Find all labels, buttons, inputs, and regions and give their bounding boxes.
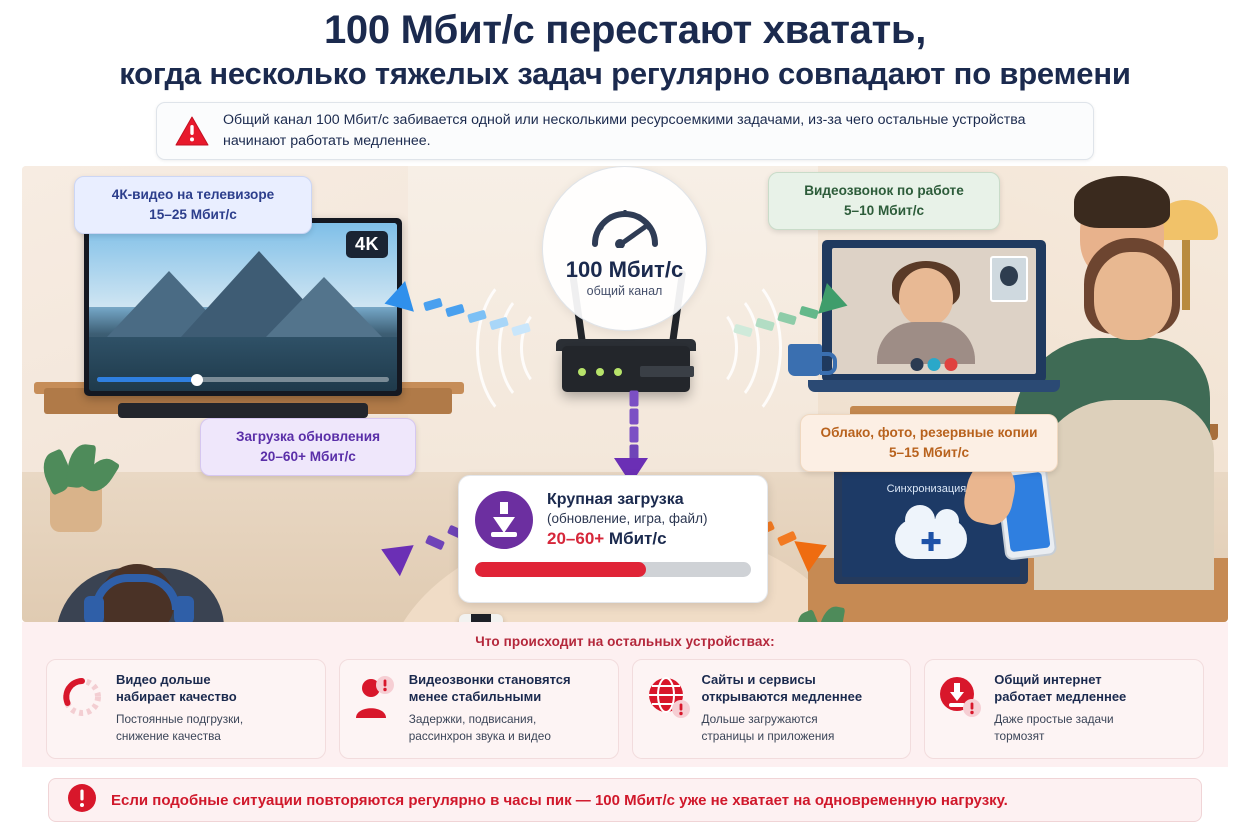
gauge-sublabel: общий канал [587, 284, 663, 298]
videocall-screen [832, 248, 1036, 374]
coffee-mug [788, 344, 822, 376]
badge-4k: 4K [346, 231, 388, 258]
globe-alert-icon [645, 674, 691, 720]
effect-card-video-text: Видео дольше набирает качество Постоянны… [116, 671, 243, 744]
lamp-stem [1182, 240, 1190, 310]
effect-title-line2: менее стабильными [409, 689, 541, 704]
call-video-button[interactable] [928, 358, 941, 371]
infographic-page: 100 Мбит/с перестают хватать, когда неск… [0, 0, 1250, 833]
effect-card-video: Видео дольше набирает качество Постоянны… [46, 659, 326, 759]
effect-desc-line2: рассинхрон звука и видео [409, 729, 551, 743]
coffee-mug-handle [820, 352, 837, 375]
large-download-text: Крупная загрузка (обновление, игра, файл… [547, 490, 707, 549]
effect-title-line1: Видео дольше [116, 672, 211, 687]
speedometer-icon [587, 200, 663, 253]
effect-card-internet-desc: Даже простые задачи тормозят [994, 711, 1126, 744]
man-hair [1074, 176, 1170, 228]
woman-head [1094, 252, 1172, 340]
speed-gauge: 100 Мбит/с общий канал [542, 166, 707, 331]
soundbar [118, 403, 368, 418]
effect-desc-line1: Даже простые задачи [994, 712, 1113, 726]
effect-desc-line2: тормозят [994, 729, 1044, 743]
download-arrow-head [493, 517, 515, 533]
buffering-spinner-icon [59, 674, 105, 720]
warning-banner-text: Общий канал 100 Мбит/с забивается одной … [223, 110, 1075, 153]
television: 4K [84, 218, 402, 396]
woman-body [1034, 400, 1214, 590]
callout-download-speed: 20–60+ Мбит/с [217, 448, 399, 466]
router-led [614, 368, 622, 376]
self-view-thumbnail [990, 256, 1028, 302]
videocall-laptop [822, 240, 1046, 382]
effects-panel: Что происходит на остальных устройствах:… [22, 622, 1228, 767]
router-led [596, 368, 604, 376]
headphone-cup [174, 596, 194, 622]
callout-cloud-speed: 5–15 Мбит/с [817, 444, 1041, 462]
game-console-body [471, 614, 491, 622]
download-circle-icon [475, 491, 533, 549]
effects-heading: Что происходит на остальных устройствах: [22, 622, 1228, 649]
effect-card-calls-title: Видеозвонки становятся менее стабильными [409, 671, 571, 705]
effect-card-calls-desc: Задержки, подвисания, рассинхрон звука и… [409, 711, 571, 744]
tv-mountain [266, 277, 382, 337]
headphone-cup [84, 596, 104, 622]
large-download-speed-value: 20–60+ [547, 529, 604, 548]
callout-videocall: Видеозвонок по работе 5–10 Мбит/с [768, 172, 1000, 230]
tv-playback-fill [97, 377, 202, 382]
self-view-head [1000, 266, 1018, 286]
large-download-speed-unit: Мбит/с [604, 529, 666, 548]
download-arrow-base [491, 532, 517, 537]
effect-desc-line2: снижение качества [116, 729, 221, 743]
page-title-line1: 100 Мбит/с перестают хватать, [30, 8, 1220, 53]
page-title-line2: когда несколько тяжелых задач регулярно … [30, 55, 1220, 92]
effect-title-line1: Общий интернет [994, 672, 1101, 687]
large-download-subtitle: (обновление, игра, файл) [547, 511, 707, 526]
callout-download-title: Загрузка обновления [217, 428, 399, 446]
footer-banner: Если подобные ситуации повторяются регул… [48, 778, 1202, 822]
effect-card-sites: Сайты и сервисы открываются медленнее До… [632, 659, 912, 759]
effect-desc-line1: Постоянные подгрузки, [116, 712, 243, 726]
callout-tv: 4К-видео на телевизоре 15–25 Мбит/с [74, 176, 312, 234]
large-download-title: Крупная загрузка [547, 490, 707, 509]
tv-lake [89, 337, 397, 391]
effect-card-calls-text: Видеозвонки становятся менее стабильными… [409, 671, 571, 744]
large-download-progress-fill [475, 562, 646, 577]
large-download-speed: 20–60+ Мбит/с [547, 529, 707, 549]
effect-card-internet: Общий интернет работает медленнее Даже п… [924, 659, 1204, 759]
callout-cloud: Облако, фото, резервные копии 5–15 Мбит/… [800, 414, 1058, 472]
footer-text: Если подобные ситуации повторяются регул… [111, 792, 1008, 809]
tv-playback-bar[interactable] [97, 377, 389, 382]
callout-cloud-title: Облако, фото, резервные копии [817, 424, 1041, 442]
tv-screen: 4K [89, 223, 397, 391]
download-alert-icon [937, 674, 983, 720]
effect-card-internet-title: Общий интернет работает медленнее [994, 671, 1126, 705]
effect-card-video-desc: Постоянные подгрузки, снижение качества [116, 711, 243, 744]
effect-title-line2: работает медленнее [994, 689, 1126, 704]
effect-card-internet-text: Общий интернет работает медленнее Даже п… [994, 671, 1126, 744]
callout-videocall-speed: 5–10 Мбит/с [785, 202, 983, 220]
warning-circle-icon [67, 783, 97, 818]
effects-card-list: Видео дольше набирает качество Постоянны… [22, 649, 1228, 759]
effect-card-calls: Видеозвонки становятся менее стабильными… [339, 659, 619, 759]
call-controls[interactable] [911, 358, 958, 371]
effect-card-video-title: Видео дольше набирает качество [116, 671, 243, 705]
callout-tv-title: 4К-видео на телевизоре [91, 186, 295, 204]
router-led [578, 368, 586, 376]
tv-playback-knob[interactable] [191, 374, 203, 386]
effect-card-sites-desc: Дольше загружаются страницы и приложения [702, 711, 863, 744]
page-header: 100 Мбит/с перестают хватать, когда неск… [0, 0, 1250, 94]
effect-desc-line2: страницы и приложения [702, 729, 835, 743]
large-download-row: Крупная загрузка (обновление, игра, файл… [475, 490, 751, 549]
effect-title-line2: набирает качество [116, 689, 237, 704]
effect-card-sites-title: Сайты и сервисы открываются медленнее [702, 671, 863, 705]
effect-title-line1: Сайты и сервисы [702, 672, 816, 687]
large-download-card: Крупная загрузка (обновление, игра, файл… [458, 475, 768, 603]
person-alert-icon [352, 674, 398, 720]
effect-title-line2: открываются медленнее [702, 689, 863, 704]
effect-card-sites-text: Сайты и сервисы открываются медленнее До… [702, 671, 863, 744]
warning-banner: Общий канал 100 Мбит/с забивается одной … [156, 102, 1094, 160]
effect-desc-line1: Задержки, подвисания, [409, 712, 537, 726]
videocall-laptop-base [808, 380, 1060, 392]
gauge-value: 100 Мбит/с [566, 257, 683, 283]
callout-tv-speed: 15–25 Мбит/с [91, 206, 295, 224]
callout-download: Загрузка обновления 20–60+ Мбит/с [200, 418, 416, 476]
callout-videocall-title: Видеозвонок по работе [785, 182, 983, 200]
cloud-plus-glyph: ✚ [920, 529, 942, 555]
warning-triangle-icon [175, 116, 209, 146]
call-info-button[interactable] [911, 358, 924, 371]
callee-head [899, 268, 953, 326]
large-download-progressbar [475, 562, 751, 577]
effect-desc-line1: Дольше загружаются [702, 712, 818, 726]
effect-title-line1: Видеозвонки становятся [409, 672, 571, 687]
wifi-wave-right [680, 270, 782, 426]
call-end-button[interactable] [945, 358, 958, 371]
download-arrow-stem [500, 502, 508, 514]
game-console [459, 614, 503, 622]
